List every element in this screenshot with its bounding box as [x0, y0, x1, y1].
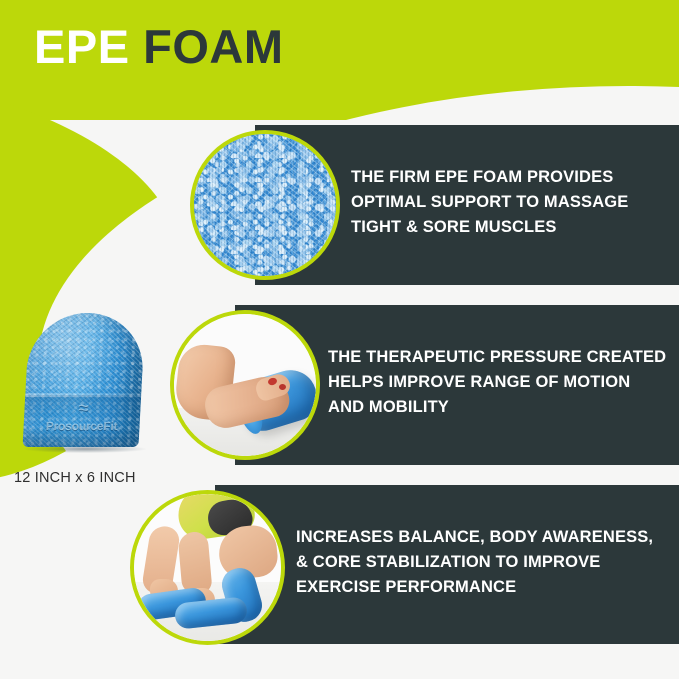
infographic-canvas: EPE FOAM THE FIRM EPE FOAM PROVIDES OPTI…: [0, 0, 679, 679]
product-flat-face: [22, 395, 141, 447]
feature-image-1-foam-texture: [190, 130, 340, 280]
scene-plank-rollers: [134, 494, 281, 641]
feature-text-2-line-1: THE THERAPEUTIC PRESSURE CREATED: [328, 345, 666, 370]
feature-text-2-line-2: HELPS IMPROVE RANGE OF MOTION: [328, 370, 666, 395]
product-hero-image: ≈ ProsourceFit: [10, 305, 170, 455]
feature-text-1-line-3: TIGHT & SORE MUSCLES: [351, 215, 628, 240]
feature-text-2-line-3: AND MOBILITY: [328, 395, 666, 420]
feature-text-2: THE THERAPEUTIC PRESSURE CREATED HELPS I…: [328, 345, 666, 420]
product-top-edge-highlight: [25, 393, 141, 397]
scene-foot-roller: [174, 314, 316, 456]
feature-image-2-foot-on-roller: [170, 310, 320, 460]
title-part-foam: FOAM: [143, 20, 283, 73]
feature-text-3-line-2: & CORE STABILIZATION TO IMPROVE: [296, 550, 653, 575]
feature-text-1-line-2: OPTIMAL SUPPORT TO MASSAGE: [351, 190, 628, 215]
feature-text-1-line-1: THE FIRM EPE FOAM PROVIDES: [351, 165, 628, 190]
feature-text-3-line-3: EXERCISE PERFORMANCE: [296, 575, 653, 600]
product-dimensions-label: 12 INCH x 6 INCH: [14, 470, 136, 486]
feature-image-2-inner: [174, 314, 316, 456]
foam-texture-speckle: [194, 134, 336, 276]
feature-text-3-line-1: INCREASES BALANCE, BODY AWARENESS,: [296, 525, 653, 550]
feature-image-3-plank-exercise: [130, 490, 285, 645]
title-space: [130, 20, 144, 73]
scene2-toenail-polish-2: [279, 384, 286, 390]
product-half-round-roller: ≈ ProsourceFit: [22, 313, 145, 447]
feature-text-1: THE FIRM EPE FOAM PROVIDES OPTIMAL SUPPO…: [351, 165, 628, 240]
feature-image-1-inner: [194, 134, 336, 276]
feature-image-3-inner: [134, 494, 281, 641]
page-title: EPE FOAM: [34, 23, 283, 70]
title-part-epe: EPE: [34, 20, 130, 73]
feature-text-3: INCREASES BALANCE, BODY AWARENESS, & COR…: [296, 525, 653, 600]
scene3-right-arm: [177, 531, 212, 595]
